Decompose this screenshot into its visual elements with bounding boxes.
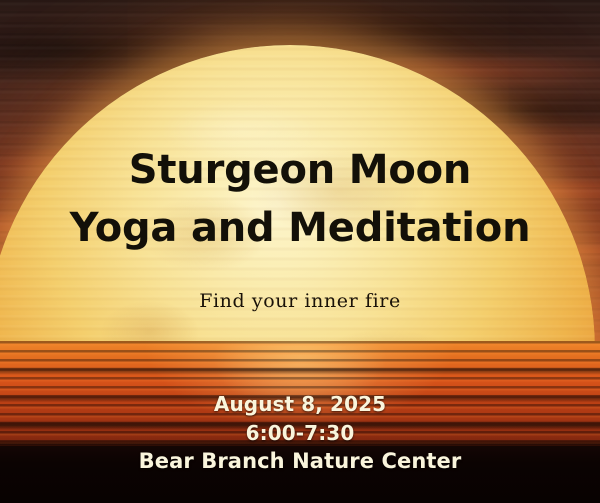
- event-venue: Bear Branch Nature Center: [0, 449, 600, 473]
- event-poster: Sturgeon Moon Yoga and Meditation Find y…: [0, 0, 600, 503]
- poster-tagline: Find your inner fire: [0, 290, 600, 312]
- poster-title-line-2: Yoga and Meditation: [0, 208, 600, 248]
- event-time: 6:00-7:30: [0, 421, 600, 445]
- event-date: August 8, 2025: [0, 392, 600, 416]
- poster-title-line-1: Sturgeon Moon: [0, 150, 600, 190]
